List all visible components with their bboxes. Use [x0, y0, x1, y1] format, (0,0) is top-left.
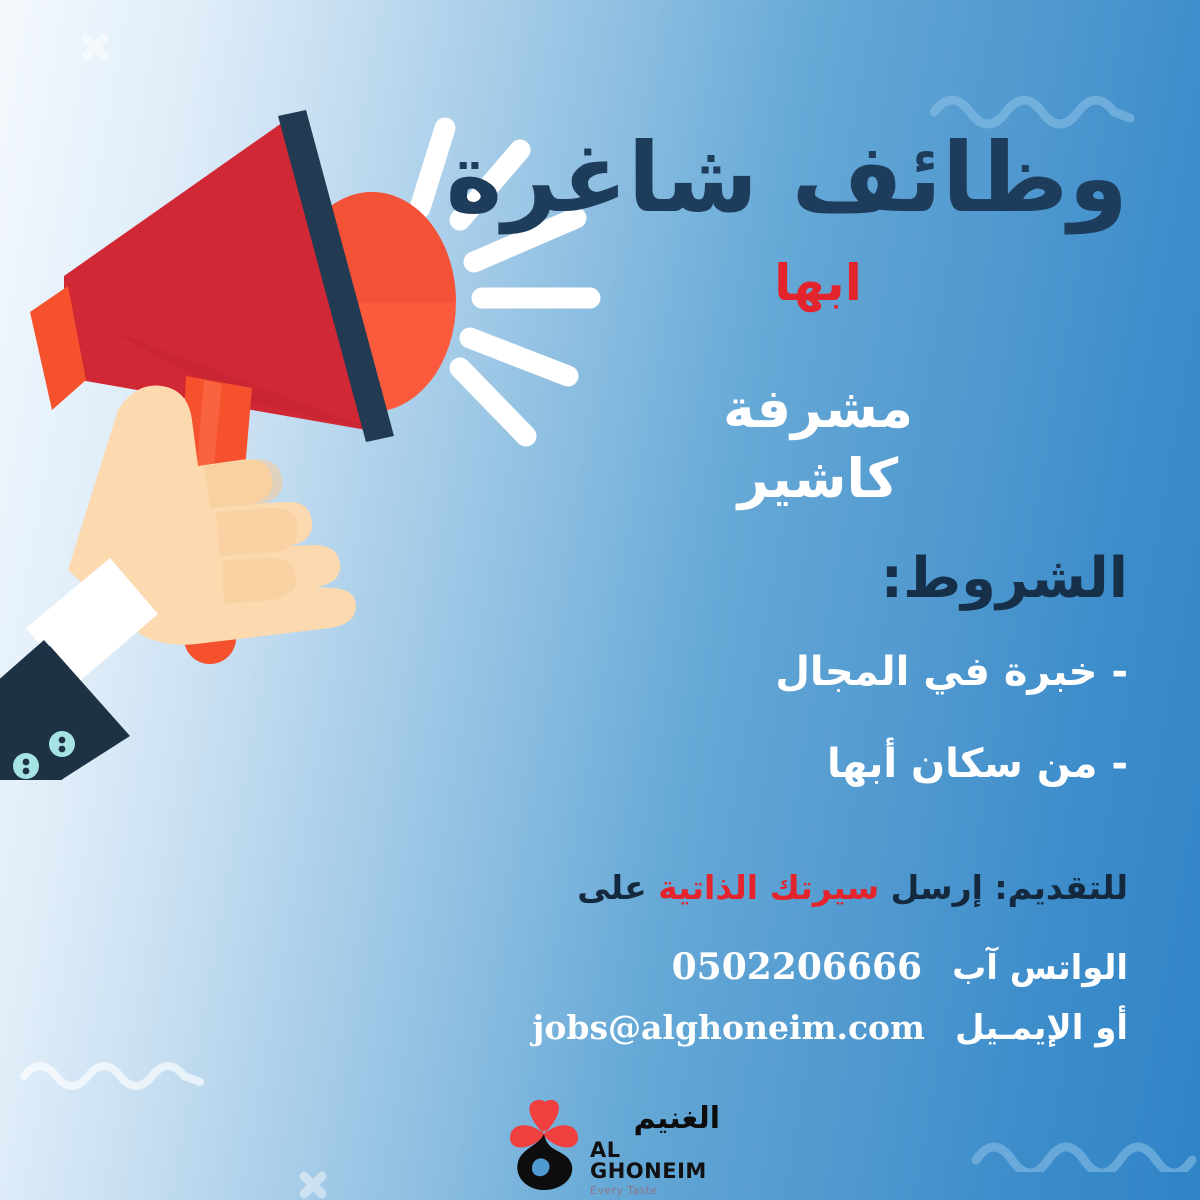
- conditions-heading: الشروط:: [508, 548, 1128, 610]
- clover-logo-icon: [498, 1098, 590, 1194]
- email-contact-row: أو الإيمـيل jobs@alghoneim.com: [508, 1008, 1128, 1049]
- job-title: كاشير: [508, 448, 1128, 510]
- cross-mark-icon: [296, 1168, 330, 1200]
- city-label: ابها: [508, 258, 1128, 308]
- logo-tagline: Every Taste: [590, 1185, 720, 1196]
- whatsapp-number[interactable]: 0502206666: [672, 946, 923, 989]
- apply-highlight: سيرتك الذاتية: [658, 868, 879, 907]
- apply-suffix: على: [577, 868, 646, 907]
- condition-item: - خبرة في المجال: [508, 648, 1128, 696]
- brand-logo: الغنيم AL GHONEIM Every Taste: [470, 1098, 720, 1198]
- job-vacancy-poster: وظائف شاغرة ابها مشرفة كاشير الشروط: - خ…: [0, 0, 1200, 1200]
- email-label: أو الإيمـيل: [955, 1008, 1128, 1049]
- condition-item: - من سكان أبها: [508, 740, 1128, 788]
- whatsapp-label: الواتس آب: [952, 948, 1128, 989]
- job-title: مشرفة: [508, 378, 1128, 440]
- cross-mark-icon: [78, 30, 112, 64]
- logo-latin-name: AL GHONEIM: [590, 1140, 720, 1182]
- apply-prefix: للتقديم: إرسل: [891, 868, 1128, 907]
- logo-arabic-name: الغنيم: [590, 1104, 720, 1134]
- poster-content: وظائف شاغرة ابها مشرفة كاشير الشروط: - خ…: [508, 0, 1128, 1200]
- logo-wordmark: الغنيم AL GHONEIM Every Taste: [590, 1104, 720, 1196]
- page-title: وظائف شاغرة: [508, 128, 1128, 229]
- wavy-line-icon: [18, 1052, 218, 1092]
- apply-instructions: للتقديم: إرسل سيرتك الذاتية على: [508, 868, 1128, 908]
- whatsapp-contact-row: الواتس آب 0502206666: [508, 946, 1128, 989]
- email-address[interactable]: jobs@alghoneim.com: [532, 1008, 925, 1048]
